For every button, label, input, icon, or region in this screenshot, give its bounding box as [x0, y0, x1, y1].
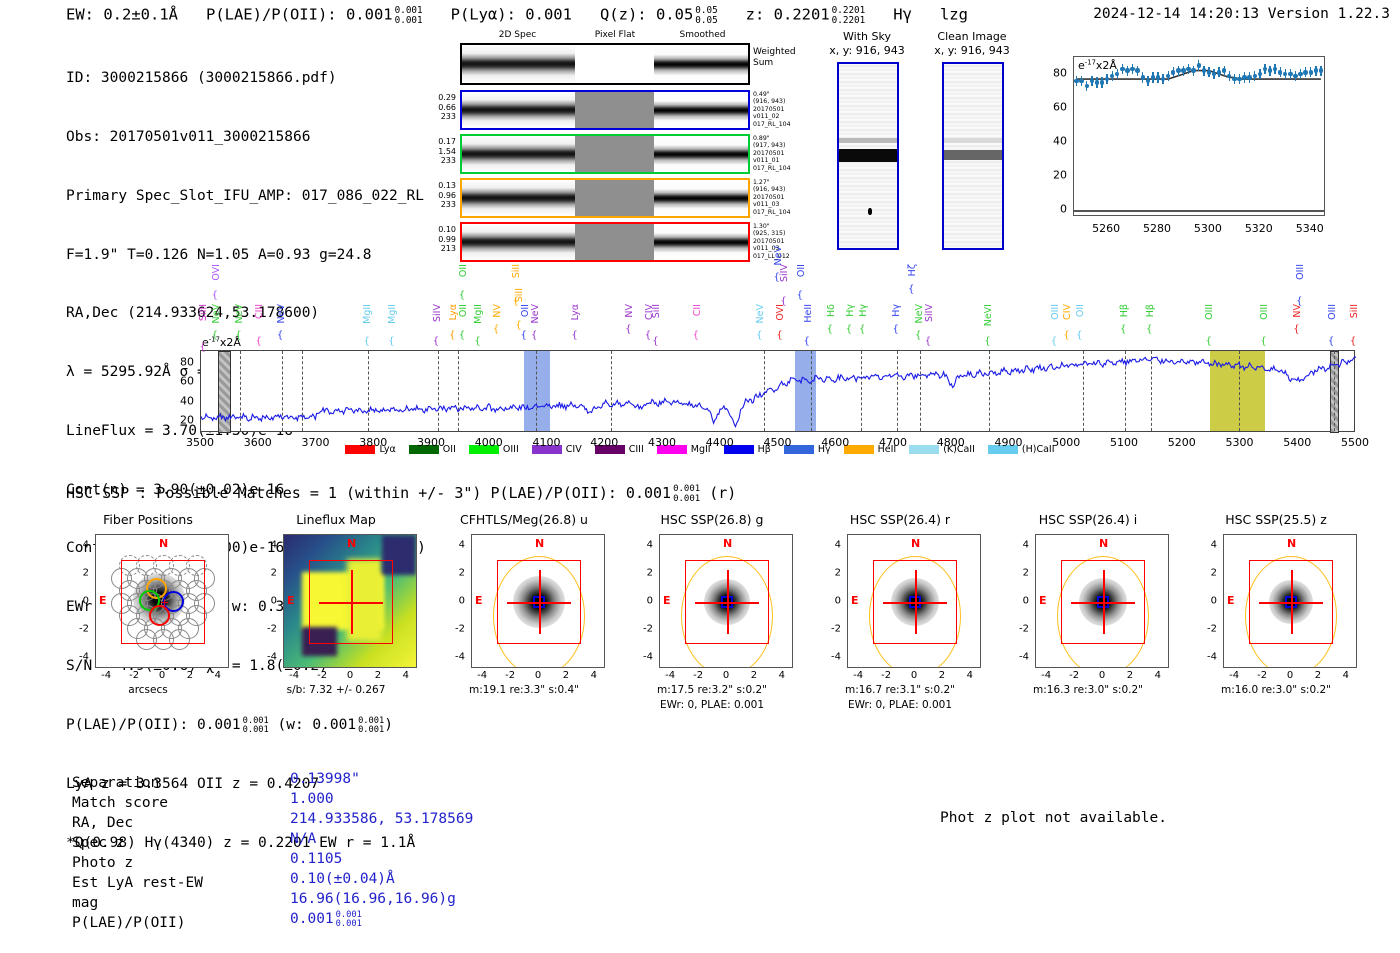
spectrum-line-label: Lyα	[570, 304, 581, 320]
data-point	[1095, 80, 1099, 84]
line-label-bracket: {	[235, 330, 241, 341]
spectrum-xtick: 4600	[821, 436, 849, 449]
fiber-row	[460, 134, 750, 174]
line-label-bracket: {	[625, 324, 631, 335]
line-label-bracket: {	[1296, 296, 1302, 307]
cutout-ytick: 4	[257, 540, 277, 551]
fiber-right-values: 0.49"(916, 943)20170501v011_02017_RL_104	[753, 91, 813, 128]
spectrum-xtick: 3600	[244, 436, 272, 449]
fiber-left-values: 0.290.66233	[426, 93, 456, 122]
header-plae-range: 0.0010.001	[395, 6, 423, 26]
header-z-label: z: 0.2201	[746, 5, 830, 23]
line-label-bracket: {	[645, 330, 651, 341]
cutout-panel-axes: NE	[1035, 534, 1169, 668]
cutout-ytick: -2	[257, 623, 277, 634]
cutout-panel-grid: Fiber Positions+NE-4-4-2-2002244arcsecsL…	[0, 512, 1400, 722]
line-label-bracket: {	[212, 290, 218, 301]
line-label-bracket: {	[363, 336, 369, 347]
line-label-bracket: {	[1063, 330, 1069, 341]
match-table-values: 0.13998"1.000214.933586, 53.178569N/A0.1…	[290, 769, 473, 929]
cutout-ytick: 0	[821, 596, 841, 607]
secondary-band	[839, 138, 897, 144]
fiber-smoothed	[654, 224, 748, 260]
data-point	[1202, 68, 1206, 72]
spectrum-xtick: 3900	[417, 436, 445, 449]
spectrum-line-label: SiIV	[779, 264, 790, 282]
match-label: Photo z	[72, 853, 203, 873]
summary-header: EW: 0.2±0.1Å P(LAE)/P(OII): 0.0010.0010.…	[66, 5, 968, 25]
cutout-xtick: 0	[347, 670, 353, 681]
data-point	[1298, 72, 1302, 76]
center-crosshair-v	[915, 570, 917, 634]
data-point	[1207, 70, 1211, 74]
legend-label: (H)CaII	[1022, 444, 1055, 455]
legend-label: OIII	[503, 444, 519, 455]
zoomplot-xtick: 5300	[1194, 222, 1222, 235]
line-label-bracket: {	[797, 290, 803, 301]
spec2d-column-title: Smoothed	[655, 30, 750, 40]
data-point	[1156, 75, 1160, 79]
spectrum-line-label: Hδ	[826, 304, 837, 317]
cutout-subtitle-secondary: EWr: 0, PLAE: 0.001	[619, 699, 805, 711]
info-line-obs: Obs: 20170501v011_3000215866	[66, 128, 426, 148]
spectrum-line-label: CII	[692, 304, 703, 316]
cutout-xtick: 4	[967, 670, 973, 681]
spectrum-xtick: 4500	[764, 436, 792, 449]
header-ew: EW: 0.2±0.1Å	[66, 5, 178, 23]
line-label-bracket: {	[531, 330, 537, 341]
cutout-panel: HSC SSP(26.8) gNE-4-4-2-2002244m:17.5 re…	[619, 512, 805, 722]
east-indicator: E	[287, 594, 295, 607]
line-label-bracket: {	[1205, 336, 1211, 347]
cutout-xtick: -4	[853, 670, 863, 681]
cutout-name: With Sky	[812, 30, 922, 44]
spectrum-xtick: 3500	[186, 436, 214, 449]
north-indicator: N	[535, 537, 544, 550]
north-indicator: N	[1287, 537, 1296, 550]
weighted-sum-row	[460, 43, 750, 85]
line-label-bracket: {	[776, 330, 782, 341]
data-point	[1232, 77, 1236, 81]
spectrum-line-label: MgII	[473, 304, 484, 324]
spectrum-line-label: OIII	[1327, 304, 1338, 320]
data-point	[1125, 68, 1129, 72]
header-qz-range: 0.050.05	[695, 6, 717, 26]
fiber-row	[460, 222, 750, 262]
secondary-band	[944, 138, 1002, 144]
cutout-xtick: -4	[1041, 670, 1051, 681]
spectrum-xtick: 5000	[1052, 436, 1080, 449]
data-point	[1181, 68, 1185, 72]
cutout-xtick: 0	[159, 670, 165, 681]
cutout-ytick: 4	[1009, 540, 1029, 551]
spectrum-line-label: OIII	[1204, 304, 1215, 320]
match-value: 0.13998"	[290, 769, 473, 789]
data-point	[1217, 70, 1221, 74]
spectrum-line-label: OII	[458, 304, 469, 317]
emission-band	[944, 150, 1002, 159]
header-z-range: 0.22010.2201	[832, 6, 866, 26]
cutout-ytick: -2	[821, 623, 841, 634]
data-point	[1085, 84, 1089, 88]
fiber-2dspec	[462, 224, 575, 260]
cutout-subtitle-primary: m:17.5 re:3.2" s:0.2"	[619, 684, 805, 696]
cutout-coords: x, y: 916, 943	[812, 44, 922, 58]
north-indicator: N	[911, 537, 920, 550]
data-point	[1171, 70, 1175, 74]
data-point	[1191, 68, 1195, 72]
spectrum-line-label: OIII	[1295, 264, 1306, 280]
line-label-bracket: {	[449, 330, 455, 341]
spectrum-line-label: SiII	[651, 304, 662, 318]
center-plus-marker: +	[160, 596, 169, 609]
spectrum-line-label: NV	[492, 304, 503, 318]
cutout-panel: CFHTLS/Meg(26.8) uNE-4-4-2-2002244m:19.1…	[431, 512, 617, 722]
line-label-bracket: {	[804, 336, 810, 347]
cutout-coords: x, y: 916, 943	[917, 44, 1027, 58]
line-label-bracket: {	[512, 296, 518, 307]
spectrum-line-label: OIII	[1050, 304, 1061, 320]
cutout-panel-axes: NE	[471, 534, 605, 668]
cutout-xtick: 2	[1315, 670, 1321, 681]
weighted-sum-cell	[462, 45, 575, 83]
cutout-panel-axes: NE	[847, 534, 981, 668]
cutout-panel-axes: NE	[1223, 534, 1357, 668]
cutout-ytick: -4	[821, 651, 841, 662]
cutout-panel-title: Fiber Positions	[55, 512, 241, 527]
line-label-bracket: {	[433, 336, 439, 347]
line-label-bracket: {	[493, 324, 499, 335]
data-point	[1197, 63, 1201, 67]
hsc-ssp-header: HSC-SSP : Possible Matches = 1 (within +…	[66, 484, 736, 503]
line-label-bracket: {	[1260, 336, 1266, 347]
spectrum-line-label: MgII	[387, 304, 398, 324]
east-indicator: E	[851, 594, 859, 607]
hsc-plae-range: 0.0010.001	[673, 485, 700, 504]
cutout-ytick: -2	[633, 623, 653, 634]
spectrum-xtick: 3800	[359, 436, 387, 449]
line-label-bracket: {	[571, 330, 577, 341]
fiber-row	[460, 178, 750, 218]
fiber-smoothed	[654, 180, 748, 216]
cutout-panel: HSC SSP(25.5) zNE-4-4-2-2002244m:16.0 re…	[1183, 512, 1369, 722]
cutout-xtick: 2	[187, 670, 193, 681]
data-point	[1146, 79, 1150, 83]
spectrum-line-label: HeII	[803, 304, 814, 323]
center-crosshair-v	[351, 570, 353, 634]
line-label-bracket: {	[459, 290, 465, 301]
cutout-panel-title: HSC SSP(26.4) i	[995, 512, 1181, 527]
fiber-right-values: 0.89"(917, 943)20170501v011_01017_RL_104	[753, 135, 813, 172]
cutout-ytick: -4	[1009, 651, 1029, 662]
cutout-image	[942, 62, 1004, 250]
spectrum-xtick: 5400	[1283, 436, 1311, 449]
cutout-xtick: 4	[779, 670, 785, 681]
match-value: 214.933586, 53.178569	[290, 809, 473, 829]
zoomplot-ytick: 20	[1041, 169, 1067, 182]
data-point	[1319, 68, 1323, 72]
data-point	[1288, 72, 1292, 76]
spectrum-line-label: NeV	[755, 304, 766, 323]
line-label-bracket: {	[277, 330, 283, 341]
cutout-xtick: -4	[665, 670, 675, 681]
spectrum-xtick: 4100	[533, 436, 561, 449]
center-crosshair-v	[1103, 570, 1105, 634]
cutout-xtick: 4	[1343, 670, 1349, 681]
spectrum-xtick: 5100	[1110, 436, 1138, 449]
line-label-bracket: {	[780, 296, 786, 307]
cutout-xtick: -2	[129, 670, 139, 681]
cutout-ytick: 4	[1197, 540, 1217, 551]
zoomplot-xtick: 5280	[1143, 222, 1171, 235]
cutout-ytick: -4	[1197, 651, 1217, 662]
spectrum-line-label: CIV	[1062, 304, 1073, 320]
cutout-ytick: -2	[69, 623, 89, 634]
cutout-ytick: 2	[69, 568, 89, 579]
cutout-xtick: 2	[375, 670, 381, 681]
data-point	[1079, 79, 1083, 83]
cosmic-ray-dot	[868, 208, 872, 215]
line-label-bracket: {	[693, 330, 699, 341]
line-label-bracket: {	[474, 336, 480, 347]
info-line-ifu: Primary Spec_Slot_IFU_AMP: 017_086_022_R…	[66, 187, 426, 207]
data-point	[1253, 74, 1257, 78]
zoomplot-xtick: 5340	[1296, 222, 1324, 235]
cutout-image	[837, 62, 899, 250]
cutout-xtick: -2	[1069, 670, 1079, 681]
east-indicator: E	[1227, 594, 1235, 607]
cutout-xtick: -4	[101, 670, 111, 681]
match-value: 1.000	[290, 789, 473, 809]
cutout-xtick: 0	[535, 670, 541, 681]
spectrum-line-label: OIII	[1259, 304, 1270, 320]
match-label: RA, Dec	[72, 813, 203, 833]
info-line-id: ID: 3000215866 (3000215866.pdf)	[66, 69, 426, 89]
line-label-bracket: {	[827, 324, 833, 335]
cutout-ytick: 2	[257, 568, 277, 579]
data-point	[1135, 68, 1139, 72]
cutout-xtick: 4	[591, 670, 597, 681]
north-indicator: N	[159, 537, 168, 550]
header-flag: lzg	[940, 5, 968, 23]
spectrum-line-label: NeV	[211, 304, 222, 323]
data-point	[1074, 79, 1078, 83]
spectrum-line-label: NeV	[234, 304, 245, 323]
cutout-ytick: 4	[69, 540, 89, 551]
cutout-name: Clean Image	[917, 30, 1027, 44]
cutout-ytick: 2	[633, 568, 653, 579]
cutout-ytick: 0	[257, 596, 277, 607]
line-label-bracket: {	[1293, 324, 1299, 335]
cutout-ytick: 0	[69, 596, 89, 607]
header-plae-label: P(LAE)/P(OII): 0.001	[206, 5, 393, 23]
zoomplot-ytick: 80	[1041, 67, 1067, 80]
spectrum-ytick: 20	[168, 414, 194, 427]
cutout-ytick: 0	[633, 596, 653, 607]
spectrum-xtick: 4400	[706, 436, 734, 449]
data-point	[1090, 79, 1094, 83]
line-label-bracket: {	[756, 330, 762, 341]
match-label: P(LAE)/P(OII)	[72, 913, 203, 933]
line-label-bracket: {	[199, 342, 205, 353]
zoomplot-ytick: 60	[1041, 101, 1067, 114]
line-label-bracket: {	[521, 330, 527, 341]
line-label-bracket: {	[1076, 330, 1082, 341]
cutout-panel-axes: +NE	[95, 534, 229, 668]
spectrum-xtick: 3700	[302, 436, 330, 449]
cutout-subtitle-primary: s/b: 7.32 +/- 0.267	[243, 684, 429, 696]
cutout-subtitle-primary: m:16.0 re:3.0" s:0.2"	[1183, 684, 1369, 696]
line-label-bracket: {	[915, 330, 921, 341]
sky-clean-cutouts: With Skyx, y: 916, 943Clean Imagex, y: 9…	[815, 30, 1025, 260]
cutout-subtitle-primary: arcsecs	[55, 684, 241, 696]
center-crosshair-v	[1291, 570, 1293, 634]
spectrum-line-label: Hζ	[907, 264, 918, 276]
cutout-panel-title: HSC SSP(26.8) g	[619, 512, 805, 527]
zoomplot-ytick: 0	[1041, 203, 1067, 216]
data-point	[1237, 77, 1241, 81]
hsc-headline-text: HSC-SSP : Possible Matches = 1 (within +…	[66, 484, 671, 502]
header-plya: P(Lyα): 0.001	[451, 5, 572, 23]
cutout-subtitle-secondary: EWr: 0, PLAE: 0.001	[807, 699, 993, 711]
cutout-ytick: 4	[821, 540, 841, 551]
data-point	[1120, 67, 1124, 71]
cutout-panel: HSC SSP(26.4) rNE-4-4-2-2002244m:16.7 re…	[807, 512, 993, 722]
cutout-subtitle-primary: m:19.1 re:3.3" s:0.4"	[431, 684, 617, 696]
cutout-xtick: -2	[693, 670, 703, 681]
cutout-xtick: 0	[911, 670, 917, 681]
match-value: 16.96(16.96,16.96)g	[290, 889, 473, 909]
spectrum-xtick: 4800	[937, 436, 965, 449]
spectrum-ytick: 80	[168, 355, 194, 368]
spectrum-line-label: Hγ	[891, 304, 902, 317]
line-label-bracket: {	[774, 272, 780, 283]
header-line-id: Hγ	[893, 5, 912, 23]
cutout-ytick: 2	[445, 568, 465, 579]
cutout-ytick: 0	[445, 596, 465, 607]
photz-note: Phot z plot not available.	[940, 810, 1167, 826]
spectrum-xtick: 4200	[590, 436, 618, 449]
line-label-bracket: {	[859, 324, 865, 335]
data-point	[1151, 75, 1155, 79]
match-label: Est LyA rest-EW	[72, 873, 203, 893]
cutout-panel: Fiber Positions+NE-4-4-2-2002244arcsecs	[55, 512, 241, 722]
spectrum-xtick: 5200	[1168, 436, 1196, 449]
center-crosshair-v	[539, 570, 541, 634]
line-label-bracket: {	[1328, 336, 1334, 347]
data-point	[1176, 68, 1180, 72]
fiber-pixelflat	[575, 224, 654, 260]
cutout-ytick: 0	[1009, 596, 1029, 607]
spectrum-line-label: Hβ	[1119, 304, 1130, 317]
cutout-panel-title: HSC SSP(26.4) r	[807, 512, 993, 527]
line-label-bracket: {	[1051, 336, 1057, 347]
cutout-title: Clean Imagex, y: 916, 943	[917, 30, 1027, 58]
match-label: Match score	[72, 793, 203, 813]
spectrum-line-label: OII	[1075, 304, 1086, 317]
cutout-xtick: 2	[1127, 670, 1133, 681]
cutout-xtick: -2	[1257, 670, 1267, 681]
cutout-subtitle-primary: m:16.3 re:3.0" s:0.2"	[995, 684, 1181, 696]
cutout-ytick: -4	[69, 651, 89, 662]
line-label-bracket: {	[925, 336, 931, 347]
fiber-left-values: 0.100.99213	[426, 225, 456, 254]
spectrum-line-label: SiIV	[924, 304, 935, 322]
zoomplot-xtick: 5320	[1245, 222, 1273, 235]
north-indicator: N	[723, 537, 732, 550]
spectrum-ytick: 40	[168, 394, 194, 407]
spectrum-trace	[201, 351, 1356, 433]
cutout-panel-title: Lineflux Map	[243, 512, 429, 527]
cutout-xtick: 4	[215, 670, 221, 681]
spectrum-line-label: Hγ	[845, 304, 856, 317]
spectrum-xtick: 5500	[1341, 436, 1369, 449]
north-indicator: N	[347, 537, 356, 550]
east-indicator: E	[663, 594, 671, 607]
data-point	[1130, 67, 1134, 71]
fiber-left-values: 0.171.54233	[426, 137, 456, 166]
data-point	[1242, 75, 1246, 79]
match-value: 0.0010.0010.001	[290, 909, 473, 929]
spectrum-line-label: OII	[796, 264, 807, 277]
cutout-ytick: 4	[445, 540, 465, 551]
hsc-filter-ref: (r)	[709, 484, 736, 502]
spectrum-xtick: 5300	[1226, 436, 1254, 449]
spectrum-line-label: MgII	[362, 304, 373, 324]
spectrum-line-label: CIII	[254, 304, 265, 319]
full-spectrum-plot: LyαOIIOIIICIVCIIIMgIIHβHγHeII(K)CaII(H)C…	[0, 262, 1400, 474]
line-label-bracket: {	[652, 336, 658, 347]
match-label: Spec z	[72, 833, 203, 853]
spectrum-axes	[200, 350, 1355, 432]
line-label-bracket: {	[459, 330, 465, 341]
cutout-panel-title: HSC SSP(25.5) z	[1183, 512, 1369, 527]
weighted-sum-cell	[575, 45, 654, 83]
cutout-xtick: -2	[505, 670, 515, 681]
fiber-pixelflat	[575, 92, 654, 128]
fiber-pixelflat	[575, 136, 654, 172]
spectrum-line-label: Hβ	[1145, 304, 1156, 317]
data-point	[1247, 75, 1251, 79]
spectrum-xtick: 4700	[879, 436, 907, 449]
cutout-ytick: -2	[1009, 623, 1029, 634]
cutout-xtick: -2	[317, 670, 327, 681]
spectrum-line-label: NeV	[773, 246, 784, 265]
cutout-ytick: 2	[821, 568, 841, 579]
cutout-ytick: -2	[1197, 623, 1217, 634]
match-table-labels: SeparationMatch scoreRA, DecSpec zPhoto …	[72, 773, 203, 933]
cutout-xtick: 0	[1287, 670, 1293, 681]
fit-curve	[1074, 57, 1326, 217]
zoomplot-ytick: 40	[1041, 135, 1067, 148]
east-indicator: E	[1039, 594, 1047, 607]
fiber-2dspec	[462, 92, 575, 128]
match-label: mag	[72, 893, 203, 913]
data-point	[1314, 68, 1318, 72]
cutout-panel-title: CFHTLS/Meg(26.8) u	[431, 512, 617, 527]
fiber-row	[460, 90, 750, 130]
data-point	[1100, 80, 1104, 84]
zoomplot-xtick: 5260	[1092, 222, 1120, 235]
cutout-ytick: -4	[257, 651, 277, 662]
spectrum-xtick: 4000	[475, 436, 503, 449]
spec2d-column-title: Pixel Flat	[575, 30, 655, 40]
cutout-panel-axes: NE	[283, 534, 417, 668]
spectrum-xtick: 4900	[995, 436, 1023, 449]
line-label-bracket: {	[388, 336, 394, 347]
spectrum-line-label: OII	[458, 264, 469, 277]
cutout-xtick: -4	[477, 670, 487, 681]
